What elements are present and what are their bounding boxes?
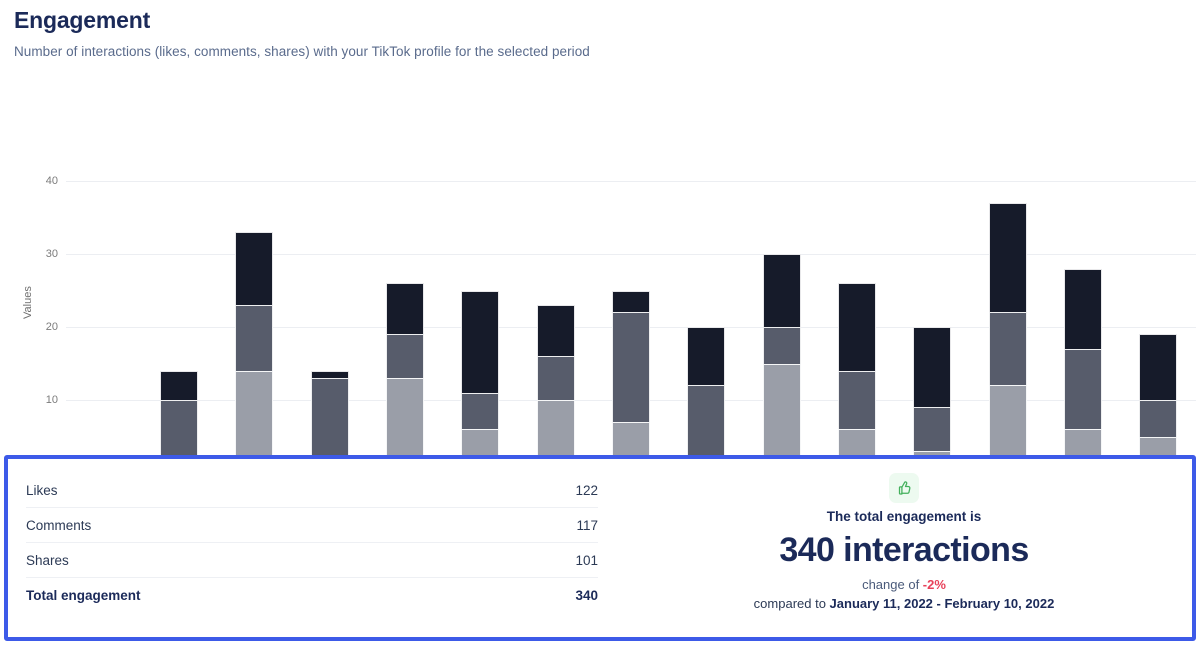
bar-segment-likes[interactable] — [989, 203, 1027, 313]
chart-column[interactable]: 9. Feb — [1121, 181, 1196, 473]
row-label: Likes — [26, 483, 58, 498]
stacked-bar[interactable] — [235, 232, 273, 473]
bar-segment-comments[interactable] — [235, 305, 273, 371]
summary-change-value: -2% — [923, 577, 946, 592]
thumbs-up-icon — [889, 473, 919, 503]
stacked-bar[interactable] — [838, 283, 876, 473]
row-value: 117 — [576, 518, 598, 533]
bar-segment-likes[interactable] — [386, 283, 424, 334]
y-axis-tick: 10 — [18, 394, 58, 406]
bar-segment-comments[interactable] — [1064, 349, 1102, 429]
summary-total-value: 340 interactions — [779, 530, 1028, 570]
chart-column[interactable]: 27. Jan — [141, 181, 216, 473]
bar-segment-comments[interactable] — [461, 393, 499, 430]
chart-column[interactable]: 3. Feb — [669, 181, 744, 473]
chart-column[interactable]: 31. Jan — [443, 181, 518, 473]
stacked-bar[interactable] — [1139, 334, 1177, 473]
bar-segment-comments[interactable] — [989, 312, 1027, 385]
bar-segment-likes[interactable] — [235, 232, 273, 305]
row-value: 340 — [575, 588, 598, 603]
y-axis-tick: 20 — [18, 321, 58, 333]
stacked-bar[interactable] — [763, 254, 801, 473]
chart-column[interactable]: 7. Feb — [970, 181, 1045, 473]
chart-column[interactable]: 26. Jan — [66, 181, 141, 473]
page-subtitle: Number of interactions (likes, comments,… — [14, 43, 1200, 61]
row-label: Comments — [26, 518, 91, 533]
bar-segment-comments[interactable] — [537, 356, 575, 400]
bar-segment-comments[interactable] — [612, 312, 650, 422]
summary-change: change of -2% — [862, 577, 946, 592]
row-label: Shares — [26, 553, 69, 568]
chart-column[interactable]: 28. Jan — [217, 181, 292, 473]
bar-segment-comments[interactable] — [311, 378, 349, 466]
stacked-bar[interactable] — [461, 291, 499, 474]
engagement-breakdown-table: Likes122Comments117Shares101Total engage… — [8, 459, 616, 637]
y-axis-tick: 40 — [18, 175, 58, 187]
bar-segment-likes[interactable] — [612, 291, 650, 313]
summary-label: The total engagement is — [827, 509, 982, 524]
total-engagement-summary: The total engagement is 340 interactions… — [616, 459, 1192, 637]
stacked-bar[interactable] — [687, 327, 725, 473]
bar-segment-likes[interactable] — [311, 371, 349, 378]
chart-column[interactable]: 30. Jan — [367, 181, 442, 473]
summary-panel: Likes122Comments117Shares101Total engage… — [4, 455, 1196, 641]
chart-column[interactable]: 5. Feb — [819, 181, 894, 473]
chart-column[interactable]: 1. Feb — [518, 181, 593, 473]
bar-segment-comments[interactable] — [913, 407, 951, 451]
bar-segment-comments[interactable] — [1139, 400, 1177, 437]
chart-column[interactable]: 8. Feb — [1045, 181, 1120, 473]
bar-segment-likes[interactable] — [160, 371, 198, 400]
bar-segment-likes[interactable] — [537, 305, 575, 356]
table-row: Comments117 — [26, 508, 598, 543]
page-title: Engagement — [14, 6, 1200, 34]
bar-segment-comments[interactable] — [687, 385, 725, 458]
bar-segment-likes[interactable] — [1139, 334, 1177, 400]
stacked-bar[interactable] — [537, 305, 575, 473]
engagement-chart: Values 010203040 26. Jan27. Jan28. Jan29… — [0, 83, 1200, 438]
stacked-bar[interactable] — [612, 291, 650, 474]
bar-segment-likes[interactable] — [763, 254, 801, 327]
table-row: Likes122 — [26, 473, 598, 508]
chart-column[interactable]: 29. Jan — [292, 181, 367, 473]
chart-column[interactable]: 2. Feb — [593, 181, 668, 473]
chart-column[interactable]: 6. Feb — [895, 181, 970, 473]
stacked-bar[interactable] — [913, 327, 951, 473]
bar-segment-likes[interactable] — [461, 291, 499, 393]
summary-change-prefix: change of — [862, 577, 923, 592]
row-value: 101 — [575, 553, 598, 568]
table-row: Shares101 — [26, 543, 598, 578]
bar-segment-comments[interactable] — [763, 327, 801, 364]
bar-segment-comments[interactable] — [386, 334, 424, 378]
bar-segment-comments[interactable] — [838, 371, 876, 429]
bar-segment-likes[interactable] — [838, 283, 876, 371]
summary-comparison-prefix: compared to — [754, 596, 830, 611]
y-axis-label: Values — [22, 286, 34, 319]
chart-column[interactable]: 4. Feb — [744, 181, 819, 473]
stacked-bar[interactable] — [386, 283, 424, 473]
bar-segment-likes[interactable] — [913, 327, 951, 407]
engagement-report-page: Engagement Number of interactions (likes… — [0, 0, 1200, 645]
chart-plot-area: 26. Jan27. Jan28. Jan29. Jan30. Jan31. J… — [66, 181, 1196, 473]
row-value: 122 — [575, 483, 598, 498]
stacked-bar[interactable] — [989, 203, 1027, 473]
y-axis-tick: 30 — [18, 248, 58, 260]
bar-segment-likes[interactable] — [1064, 269, 1102, 349]
report-header: Engagement Number of interactions (likes… — [0, 0, 1200, 61]
row-label: Total engagement — [26, 588, 141, 603]
bar-segment-likes[interactable] — [687, 327, 725, 385]
summary-comparison-range: January 11, 2022 - February 10, 2022 — [830, 596, 1055, 611]
table-row-total: Total engagement340 — [26, 578, 598, 613]
summary-comparison: compared to January 11, 2022 - February … — [754, 596, 1055, 611]
stacked-bar[interactable] — [1064, 269, 1102, 473]
